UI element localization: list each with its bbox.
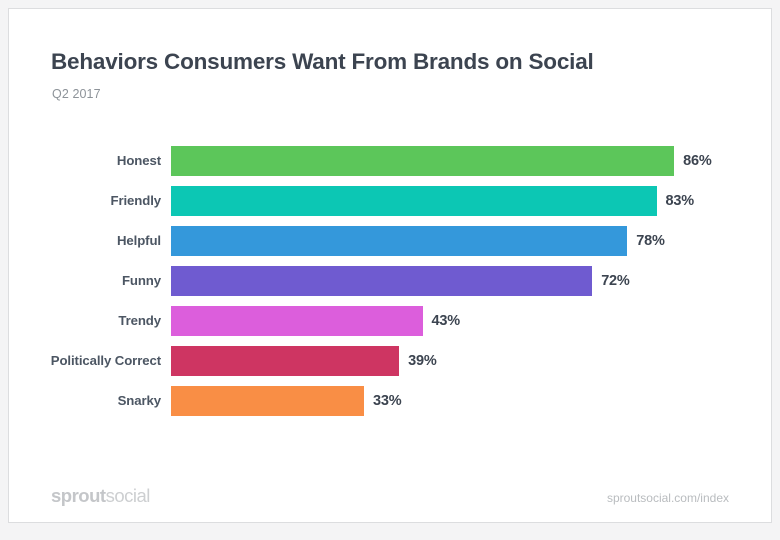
bar-track: 72%: [171, 266, 773, 296]
bar-category-label: Snarky: [9, 386, 161, 416]
bar-row[interactable]: Friendly83%: [9, 186, 773, 216]
chart-card: Behaviors Consumers Want From Brands on …: [8, 8, 772, 523]
bar-row[interactable]: Helpful78%: [9, 226, 773, 256]
bar-track: 78%: [171, 226, 773, 256]
bar-category-label: Funny: [9, 266, 161, 296]
bar-track: 33%: [171, 386, 773, 416]
bar-fill[interactable]: [171, 386, 364, 416]
bar-category-label: Trendy: [9, 306, 161, 336]
bar-track: 83%: [171, 186, 773, 216]
bar-track: 86%: [171, 146, 773, 176]
bar-row[interactable]: Honest86%: [9, 146, 773, 176]
bar-category-label: Helpful: [9, 226, 161, 256]
bar-row[interactable]: Funny72%: [9, 266, 773, 296]
logo-bold-text: sprout: [51, 485, 106, 506]
bar-fill[interactable]: [171, 226, 627, 256]
bar-row[interactable]: Trendy43%: [9, 306, 773, 336]
page-frame: Behaviors Consumers Want From Brands on …: [0, 0, 780, 540]
bar-track: 43%: [171, 306, 773, 336]
bar-category-label: Politically Correct: [9, 346, 161, 376]
bar-row[interactable]: Politically Correct39%: [9, 346, 773, 376]
chart-subtitle: Q2 2017: [52, 87, 101, 101]
bar-chart-plot: Honest86%Friendly83%Helpful78%Funny72%Tr…: [9, 146, 773, 436]
bar-value-label: 33%: [373, 386, 401, 416]
bar-value-label: 43%: [432, 306, 460, 336]
bar-value-label: 72%: [601, 266, 629, 296]
bar-value-label: 78%: [636, 226, 664, 256]
page-title: Behaviors Consumers Want From Brands on …: [51, 49, 594, 75]
bar-track: 39%: [171, 346, 773, 376]
bar-category-label: Friendly: [9, 186, 161, 216]
bar-value-label: 39%: [408, 346, 436, 376]
bar-row[interactable]: Snarky33%: [9, 386, 773, 416]
bar-fill[interactable]: [171, 306, 423, 336]
footer-source-url: sproutsocial.com/index: [607, 491, 729, 505]
bar-fill[interactable]: [171, 266, 592, 296]
bar-value-label: 86%: [683, 146, 711, 176]
sproutsocial-logo: sproutsocial: [51, 485, 150, 507]
bar-category-label: Honest: [9, 146, 161, 176]
bar-fill[interactable]: [171, 146, 674, 176]
bar-fill[interactable]: [171, 186, 657, 216]
bar-fill[interactable]: [171, 346, 399, 376]
bar-value-label: 83%: [666, 186, 694, 216]
logo-light-text: social: [106, 485, 150, 506]
